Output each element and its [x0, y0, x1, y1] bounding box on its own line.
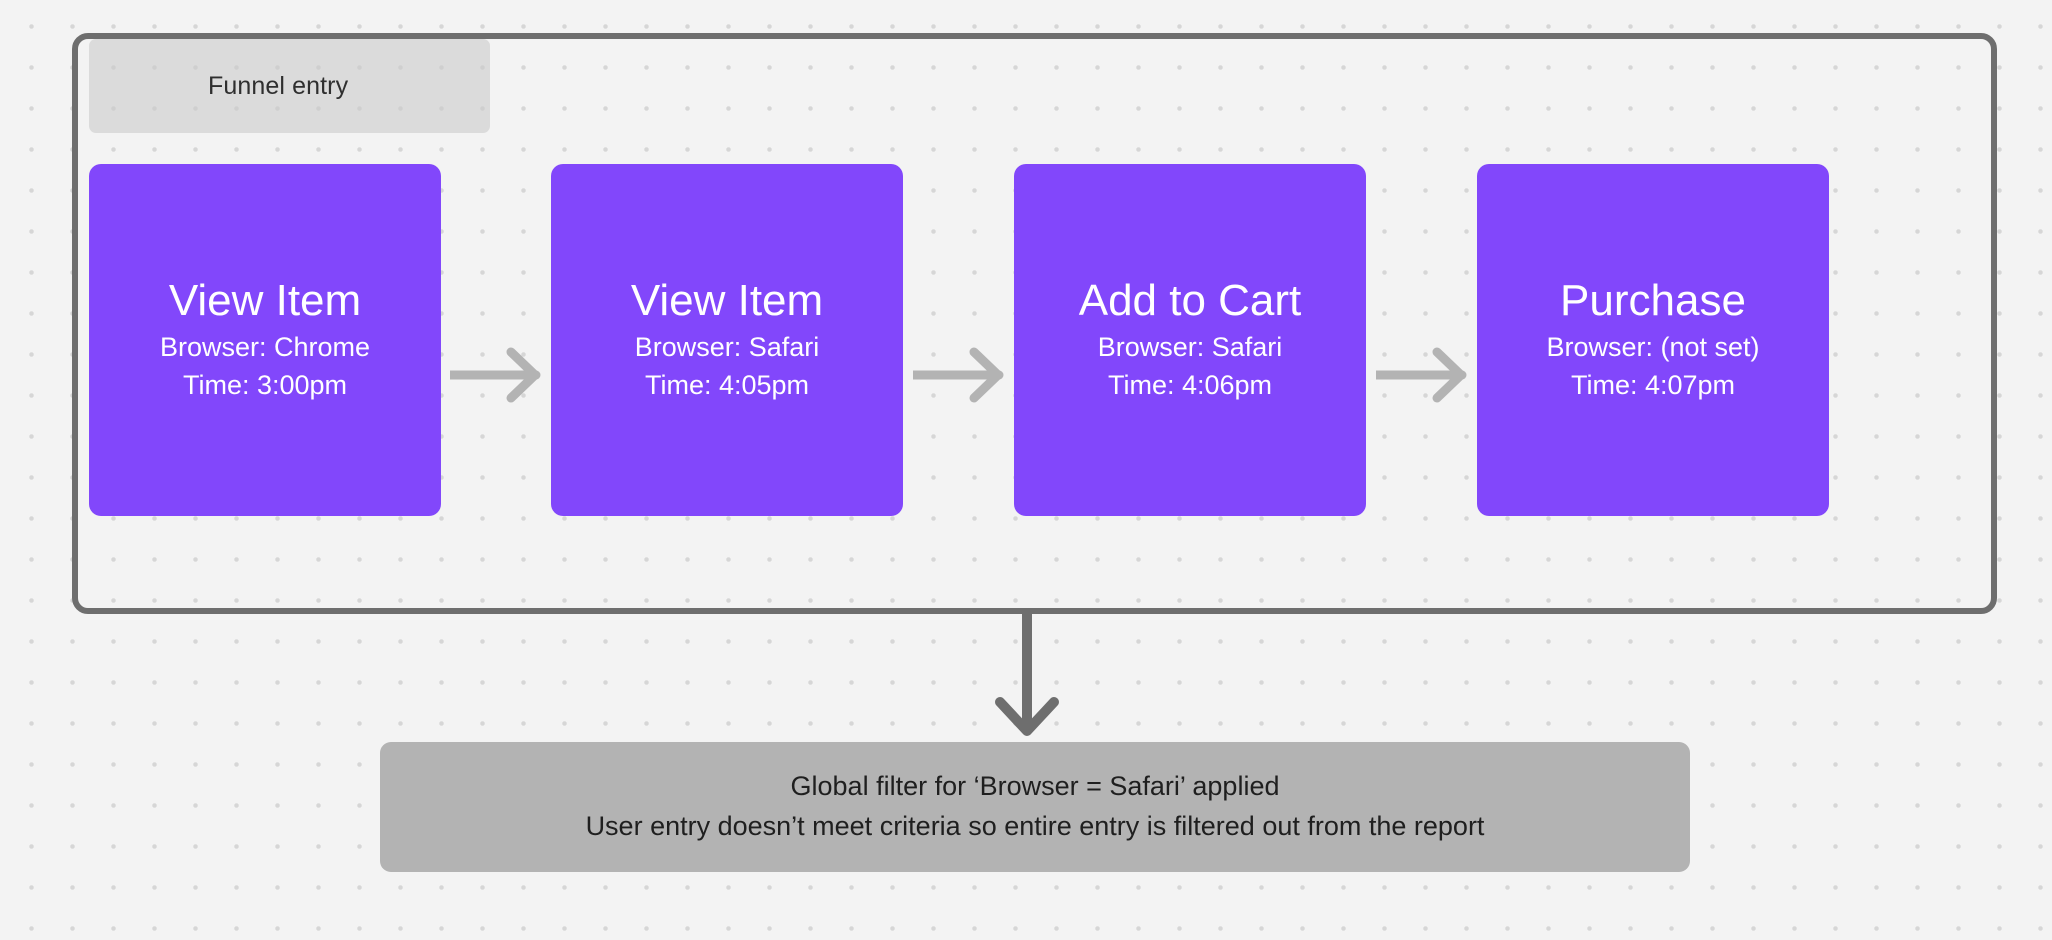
step-time: Time: 4:07pm [1571, 367, 1735, 404]
arrow-right-icon [1376, 344, 1471, 406]
step-browser: Browser: Safari [635, 329, 820, 366]
step-browser: Browser: Chrome [160, 329, 370, 366]
step-title: Purchase [1560, 276, 1746, 325]
step-browser: Browser: Safari [1098, 329, 1283, 366]
filter-note-box: Global filter for ‘Browser = Safari’ app… [380, 742, 1690, 872]
step-time: Time: 3:00pm [183, 367, 347, 404]
funnel-step-card[interactable]: View Item Browser: Chrome Time: 3:00pm [89, 164, 441, 516]
step-title: View Item [631, 276, 823, 325]
funnel-step-card[interactable]: View Item Browser: Safari Time: 4:05pm [551, 164, 903, 516]
funnel-step-card[interactable]: Purchase Browser: (not set) Time: 4:07pm [1477, 164, 1829, 516]
arrow-right-icon [450, 344, 545, 406]
filter-note-line-1: Global filter for ‘Browser = Safari’ app… [791, 767, 1280, 807]
arrow-down-icon [992, 612, 1062, 742]
filter-note-line-2: User entry doesn’t meet criteria so enti… [586, 807, 1485, 847]
step-time: Time: 4:06pm [1108, 367, 1272, 404]
step-time: Time: 4:05pm [645, 367, 809, 404]
step-title: Add to Cart [1079, 276, 1302, 325]
step-browser: Browser: (not set) [1546, 329, 1759, 366]
step-title: View Item [169, 276, 361, 325]
arrow-right-icon [913, 344, 1008, 406]
funnel-step-card[interactable]: Add to Cart Browser: Safari Time: 4:06pm [1014, 164, 1366, 516]
